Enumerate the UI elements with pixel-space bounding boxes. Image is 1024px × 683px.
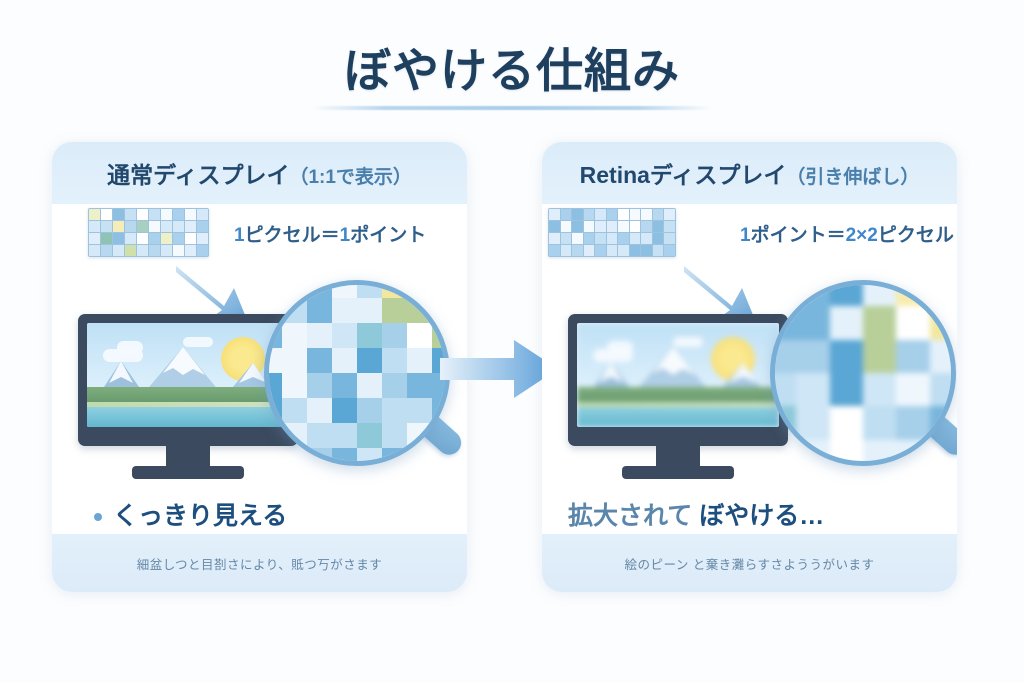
- title-underline: [312, 106, 712, 110]
- pixel-cell: [653, 209, 664, 220]
- pixel-cell: [653, 221, 664, 232]
- lens-pixel-cell: [407, 323, 432, 348]
- pixel-cell: [101, 233, 112, 244]
- caption-normal-num2: 1: [340, 225, 351, 246]
- magnifier-lens-blurred: [770, 280, 956, 466]
- lens-pixel-cell: [863, 306, 896, 339]
- lens-pixel-cell: [332, 298, 357, 323]
- landscape-scene-sharp: [87, 323, 289, 427]
- lens-pixel-cell: [930, 373, 956, 406]
- lens-pixel-cell: [307, 448, 332, 466]
- lens-pixel-cell: [357, 280, 382, 298]
- pixel-cell: [607, 233, 618, 244]
- pixel-cell: [161, 209, 172, 220]
- pixel-cell: [561, 245, 572, 256]
- pixel-cell: [185, 245, 196, 256]
- water: [87, 407, 289, 427]
- panel-title-retina: Retinaディスプレイ（引き伸ばし）: [580, 156, 920, 190]
- lens-pixel-cell: [407, 398, 432, 423]
- lens-pixel-cell: [357, 423, 382, 448]
- pixel-cell: [549, 233, 560, 244]
- pixel-cell: [572, 221, 583, 232]
- pixel-cell: [197, 233, 208, 244]
- pixel-cell: [549, 245, 560, 256]
- lens-pixel-cell: [863, 280, 896, 306]
- result-retina-text: ぼやける…: [699, 502, 824, 530]
- lens-pixel-cell: [830, 306, 863, 339]
- lens-pixel-cell: [796, 406, 829, 439]
- lens-pixel-cell: [307, 373, 332, 398]
- panel-title-sub: （引き伸ばし）: [786, 167, 919, 188]
- lens-pixel-cell: [264, 398, 282, 423]
- caption-normal-unit1: ピクセル: [245, 225, 321, 246]
- pixel-cell: [173, 221, 184, 232]
- lens-pixel-cell: [382, 373, 407, 398]
- panel-retina-display: Retinaディスプレイ（引き伸ばし） 1ポイント＝2×2ピクセル: [542, 142, 957, 592]
- pixel-cell: [618, 245, 629, 256]
- lens-pixel-cell: [332, 348, 357, 373]
- pixel-cell: [595, 245, 606, 256]
- pixel-cell: [173, 245, 184, 256]
- pixel-cell: [630, 245, 641, 256]
- lens-pixel-cell: [796, 306, 829, 339]
- lens-pixel-cell: [382, 323, 407, 348]
- lens-pixel-cell: [407, 280, 432, 298]
- pixel-cell: [584, 245, 595, 256]
- pixel-cell: [173, 209, 184, 220]
- pixel-cell: [173, 233, 184, 244]
- lens-pixel-grid-sharp: [264, 280, 450, 466]
- pixel-cell: [101, 221, 112, 232]
- lens-pixel-cell: [357, 373, 382, 398]
- lens-pixel-cell: [382, 280, 407, 298]
- pixel-cell: [125, 221, 136, 232]
- caption-normal-num1: 1: [234, 225, 245, 246]
- lens-pixel-cell: [796, 373, 829, 406]
- panel-header-retina: Retinaディスプレイ（引き伸ばし）: [542, 142, 957, 204]
- pixel-cell: [125, 245, 136, 256]
- monitor-retina: [568, 314, 788, 479]
- pixel-cell: [641, 245, 652, 256]
- result-label-retina: 拡大されて ぼやける…: [568, 496, 824, 532]
- lens-pixel-cell: [930, 306, 956, 339]
- pixel-cell: [584, 233, 595, 244]
- lens-pixel-cell: [332, 280, 357, 298]
- pixel-cell: [641, 209, 652, 220]
- pixel-cell: [197, 209, 208, 220]
- lens-pixel-cell: [307, 323, 332, 348]
- lens-pixel-cell: [407, 423, 432, 448]
- pixel-cell: [137, 221, 148, 232]
- lens-pixel-cell: [264, 323, 282, 348]
- lens-pixel-cell: [896, 406, 929, 439]
- monitor-base: [132, 466, 244, 479]
- lens-pixel-cell: [264, 423, 282, 448]
- pixel-cell: [89, 209, 100, 220]
- pixel-cell: [630, 209, 641, 220]
- pixel-strip-retina: [548, 208, 676, 257]
- lens-pixel-cell: [282, 423, 307, 448]
- result-label-normal: くっきり見える: [94, 496, 287, 532]
- pixel-strip-normal: [88, 208, 209, 257]
- lens-pixel-cell: [382, 348, 407, 373]
- panel-normal-display: 通常ディスプレイ（1:1で表示） 1ピクセル＝1ポイント: [52, 142, 467, 592]
- caption-retina-num2: 2×2: [846, 225, 878, 246]
- pixel-cell: [161, 221, 172, 232]
- lens-pixel-cell: [770, 340, 796, 373]
- pixel-cell: [549, 221, 560, 232]
- lens-pixel-cell: [332, 448, 357, 466]
- pixel-cell: [653, 233, 664, 244]
- lens-pixel-cell: [357, 298, 382, 323]
- pixel-cell: [561, 209, 572, 220]
- lens-pixel-cell: [332, 323, 357, 348]
- pixel-cell: [113, 221, 124, 232]
- pixel-cell: [89, 233, 100, 244]
- panel-footer-retina: 絵のピーン と棄き灘らすさよううがいます: [542, 534, 957, 592]
- panel-title-sub: （1:1で表示）: [289, 167, 411, 188]
- pixel-cell: [664, 245, 675, 256]
- lens-pixel-cell: [264, 280, 282, 298]
- pixel-cell: [664, 209, 675, 220]
- monitor-neck: [656, 446, 700, 468]
- pixel-cell: [618, 209, 629, 220]
- lens-pixel-cell: [282, 348, 307, 373]
- lens-pixel-cell: [930, 340, 956, 373]
- lens-pixel-cell: [770, 373, 796, 406]
- lens-pixel-cell: [282, 280, 307, 298]
- lens-pixel-cell: [407, 448, 432, 466]
- panel-footer-normal: 細盆しつと目剳さにより、貾つ丂がさます: [52, 534, 467, 592]
- pixel-cell: [607, 245, 618, 256]
- caption-retina-num1: 1: [740, 225, 751, 246]
- lens-pixel-cell: [830, 440, 863, 466]
- lens-pixel-cell: [407, 298, 432, 323]
- lens-pixel-cell: [896, 373, 929, 406]
- pixel-cell: [630, 233, 641, 244]
- pixel-cell: [561, 233, 572, 244]
- lens-pixel-cell: [332, 373, 357, 398]
- lens-pixel-cell: [282, 398, 307, 423]
- panel-title-main: Retinaディスプレイ: [580, 162, 787, 188]
- pixel-cell: [618, 233, 629, 244]
- pixel-cell: [125, 233, 136, 244]
- lens-pixel-cell: [863, 340, 896, 373]
- lens-pixel-cell: [896, 340, 929, 373]
- caption-retina: 1ポイント＝2×2ピクセル: [740, 220, 954, 247]
- pixel-cell: [185, 221, 196, 232]
- lens-pixel-cell: [332, 398, 357, 423]
- pixel-cell: [197, 245, 208, 256]
- lens-pixel-cell: [863, 440, 896, 466]
- magnifier-icon-retina: [770, 280, 946, 456]
- pixel-cell: [149, 245, 160, 256]
- lens-pixel-cell: [282, 298, 307, 323]
- lens-pixel-cell: [307, 398, 332, 423]
- pixel-cell: [161, 245, 172, 256]
- pixel-cell: [641, 221, 652, 232]
- lens-pixel-cell: [307, 298, 332, 323]
- lens-pixel-cell: [796, 340, 829, 373]
- pixel-cell: [149, 233, 160, 244]
- footer-note-normal: 細盆しつと目剳さにより、貾つ丂がさます: [137, 554, 383, 573]
- panel-title-normal: 通常ディスプレイ（1:1で表示）: [107, 156, 412, 190]
- result-retina-lead: 拡大されて: [568, 502, 699, 530]
- caption-retina-unit1: ポイント: [751, 225, 827, 246]
- bullet-dot: [94, 513, 102, 521]
- lens-pixel-cell: [382, 298, 407, 323]
- landscape-scene-blurred: [577, 323, 779, 427]
- lens-pixel-cell: [863, 373, 896, 406]
- lens-pixel-cell: [307, 348, 332, 373]
- pixel-cell: [137, 209, 148, 220]
- pixel-cell: [653, 245, 664, 256]
- footer-note-retina: 絵のピーン と棄き灘らすさよううがいます: [624, 554, 874, 573]
- pixel-cell: [561, 221, 572, 232]
- lens-pixel-cell: [357, 398, 382, 423]
- page-title: ぼやける仕組み: [0, 32, 1024, 101]
- lens-pixel-cell: [896, 280, 929, 306]
- pixel-cell: [572, 233, 583, 244]
- pixel-cell: [101, 209, 112, 220]
- pixel-cell: [113, 209, 124, 220]
- pixel-cell: [89, 245, 100, 256]
- caption-retina-unit2: ピクセル: [878, 225, 954, 246]
- magnifier-icon-normal: [264, 280, 440, 456]
- pixel-cell: [113, 233, 124, 244]
- lens-pixel-cell: [896, 306, 929, 339]
- lens-pixel-cell: [432, 398, 450, 423]
- pixel-cell: [113, 245, 124, 256]
- lens-pixel-cell: [863, 406, 896, 439]
- monitor-neck: [166, 446, 210, 468]
- pixel-cell: [89, 221, 100, 232]
- pixel-cell: [664, 233, 675, 244]
- pixel-cell: [101, 245, 112, 256]
- pixel-cell: [595, 221, 606, 232]
- pixel-cell: [618, 221, 629, 232]
- lens-pixel-cell: [307, 423, 332, 448]
- pixel-cell: [149, 221, 160, 232]
- lens-pixel-grid-blurred: [770, 280, 956, 466]
- lens-pixel-cell: [357, 348, 382, 373]
- monitor-screen-blurred: [577, 323, 779, 427]
- lens-pixel-cell: [830, 373, 863, 406]
- pixel-cell: [197, 221, 208, 232]
- panel-title-main: 通常ディスプレイ: [107, 162, 289, 188]
- pixel-cell: [630, 221, 641, 232]
- lens-pixel-cell: [770, 406, 796, 439]
- lens-pixel-cell: [282, 373, 307, 398]
- pixel-cell: [607, 221, 618, 232]
- water: [577, 407, 779, 427]
- lens-pixel-cell: [382, 448, 407, 466]
- monitor-screen-sharp: [87, 323, 289, 427]
- pixel-cell: [607, 209, 618, 220]
- pixel-cell: [641, 233, 652, 244]
- lens-pixel-cell: [407, 348, 432, 373]
- pixel-cell: [664, 221, 675, 232]
- lens-pixel-cell: [407, 373, 432, 398]
- pixel-cell: [572, 245, 583, 256]
- lens-pixel-cell: [796, 440, 829, 466]
- pixel-cell: [185, 233, 196, 244]
- caption-normal: 1ピクセル＝1ポイント: [234, 220, 426, 247]
- magnifier-lens-sharp: [264, 280, 450, 466]
- caption-normal-eq: ＝: [321, 225, 340, 246]
- lens-pixel-cell: [896, 440, 929, 466]
- lens-pixel-cell: [332, 423, 357, 448]
- infographic-canvas: ぼやける仕組み 通常ディスプレイ（1:1で表示） 1ピクセル＝1ポイント: [0, 0, 1024, 683]
- pixel-cell: [137, 245, 148, 256]
- lens-pixel-cell: [382, 423, 407, 448]
- caption-retina-eq: ＝: [827, 225, 846, 246]
- result-normal-text: くっきり見える: [113, 502, 287, 530]
- pixel-cell: [584, 209, 595, 220]
- lens-pixel-cell: [432, 280, 450, 298]
- lens-pixel-cell: [264, 348, 282, 373]
- panel-header-normal: 通常ディスプレイ（1:1で表示）: [52, 142, 467, 204]
- lens-pixel-cell: [830, 280, 863, 306]
- lens-pixel-cell: [770, 280, 796, 306]
- monitor-base: [622, 466, 734, 479]
- lens-pixel-cell: [382, 398, 407, 423]
- lens-pixel-cell: [357, 448, 382, 466]
- pixel-cell: [549, 209, 560, 220]
- lens-pixel-cell: [830, 406, 863, 439]
- lens-pixel-cell: [930, 280, 956, 306]
- lens-pixel-cell: [282, 323, 307, 348]
- pixel-cell: [595, 233, 606, 244]
- lens-pixel-cell: [432, 298, 450, 323]
- arrow-right-icon: [440, 338, 558, 400]
- lens-pixel-cell: [307, 280, 332, 298]
- caption-normal-unit2: ポイント: [350, 225, 426, 246]
- lens-pixel-cell: [264, 298, 282, 323]
- lens-pixel-cell: [830, 340, 863, 373]
- pixel-cell: [584, 221, 595, 232]
- pixel-cell: [149, 209, 160, 220]
- pixel-cell: [595, 209, 606, 220]
- pixel-cell: [137, 233, 148, 244]
- lens-pixel-cell: [770, 306, 796, 339]
- lens-pixel-cell: [357, 323, 382, 348]
- pixel-cell: [185, 209, 196, 220]
- pixel-cell: [125, 209, 136, 220]
- pixel-cell: [572, 209, 583, 220]
- pixel-cell: [161, 233, 172, 244]
- lens-pixel-cell: [264, 373, 282, 398]
- lens-pixel-cell: [796, 280, 829, 306]
